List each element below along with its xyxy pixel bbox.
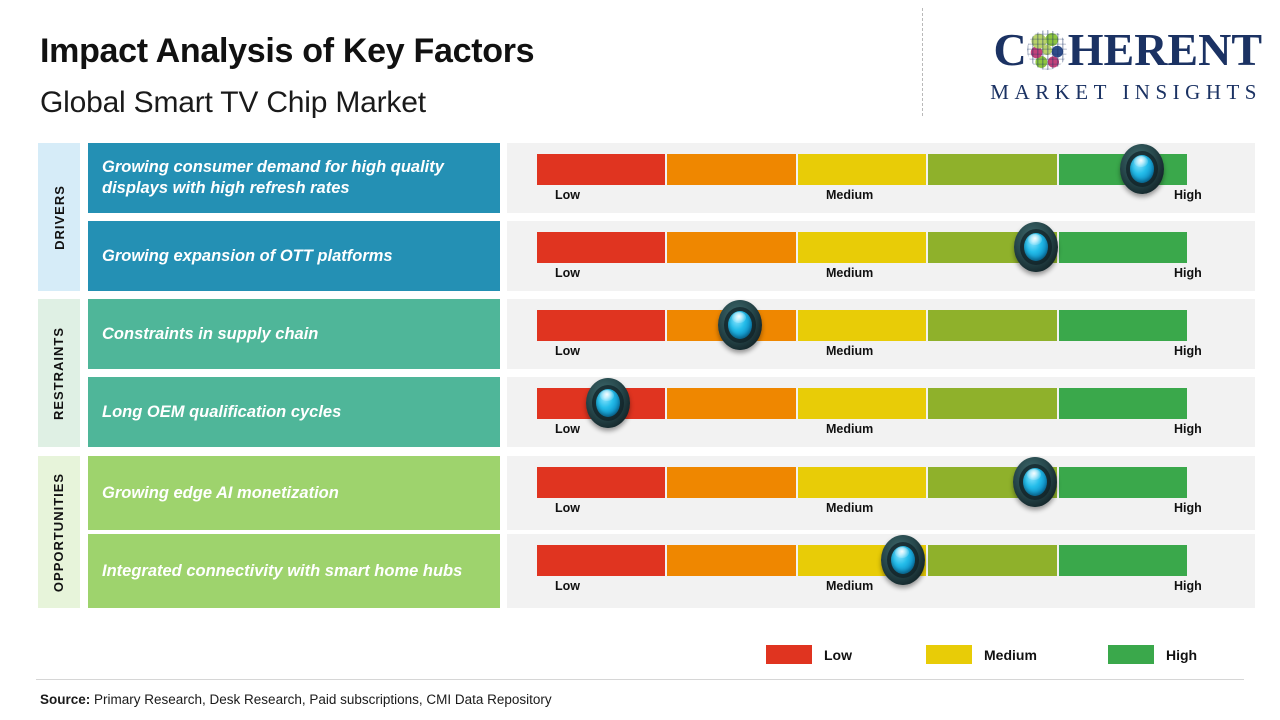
factor-box[interactable]: Constraints in supply chain xyxy=(88,299,500,369)
legend-item: Low xyxy=(766,645,852,664)
legend-swatch-high xyxy=(1108,645,1154,664)
gauge-label-low: Low xyxy=(555,266,580,280)
gauge-segment-low xyxy=(667,232,797,263)
category-label-text: DRIVERS xyxy=(52,185,67,250)
gauge-segment-medium-high xyxy=(928,388,1058,419)
gauge-scale-labels: LowMediumHigh xyxy=(507,188,1255,210)
factor-label: Growing consumer demand for high quality… xyxy=(102,157,486,198)
factor-box[interactable]: Growing consumer demand for high quality… xyxy=(88,143,500,213)
gauge-segment-medium xyxy=(798,545,928,576)
factor-box[interactable]: Integrated connectivity with smart home … xyxy=(88,534,500,608)
legend-label: Medium xyxy=(984,647,1037,663)
gauge-scale-labels: LowMediumHigh xyxy=(507,422,1255,444)
legend-label: Low xyxy=(824,647,852,663)
gauge-bar xyxy=(537,154,1187,185)
gauge-label-high: High xyxy=(1174,188,1202,202)
gauge-segment-very-low xyxy=(537,154,667,185)
gauge-label-high: High xyxy=(1174,344,1202,358)
impact-gauge: LowMediumHigh xyxy=(507,221,1255,291)
gauge-label-medium: Medium xyxy=(826,188,873,202)
legend-item: Medium xyxy=(926,645,1037,664)
category-label-text: RESTRAINTS xyxy=(52,326,67,419)
gauge-segment-high xyxy=(1059,154,1187,185)
gauge-label-high: High xyxy=(1174,266,1202,280)
source-label: Source: xyxy=(40,692,90,707)
factor-label: Constraints in supply chain xyxy=(102,324,318,345)
gauge-segment-low xyxy=(667,154,797,185)
impact-gauge: LowMediumHigh xyxy=(507,377,1255,447)
gauge-label-medium: Medium xyxy=(826,579,873,593)
factor-box[interactable]: Growing edge AI monetization xyxy=(88,456,500,530)
impact-gauge: LowMediumHigh xyxy=(507,143,1255,213)
gauge-label-medium: Medium xyxy=(826,266,873,280)
gauge-label-low: Low xyxy=(555,579,580,593)
category-label-drivers: DRIVERS xyxy=(38,143,80,291)
gauge-segment-high xyxy=(1059,467,1187,498)
gauge-bar xyxy=(537,545,1187,576)
gauge-scale-labels: LowMediumHigh xyxy=(507,579,1255,601)
gauge-segment-very-low xyxy=(537,310,667,341)
gauge-bar xyxy=(537,467,1187,498)
gauge-label-low: Low xyxy=(555,422,580,436)
gauge-scale-labels: LowMediumHigh xyxy=(507,501,1255,523)
gauge-bar xyxy=(537,232,1187,263)
gauge-segment-medium-high xyxy=(928,232,1058,263)
gauge-label-medium: Medium xyxy=(826,422,873,436)
legend-label: High xyxy=(1166,647,1197,663)
gauge-segment-medium xyxy=(798,388,928,419)
category-label-restraints: RESTRAINTS xyxy=(38,299,80,447)
gauge-label-high: High xyxy=(1174,422,1202,436)
gauge-segment-low xyxy=(667,310,797,341)
source-note: Source: Primary Research, Desk Research,… xyxy=(40,692,552,707)
factor-label: Growing edge AI monetization xyxy=(102,483,339,504)
gauge-label-low: Low xyxy=(555,344,580,358)
gauge-segment-medium xyxy=(798,154,928,185)
category-label-text: OPPORTUNITIES xyxy=(52,472,67,591)
gauge-segment-medium-high xyxy=(928,154,1058,185)
gauge-segment-high xyxy=(1059,232,1187,263)
factor-label: Growing expansion of OTT platforms xyxy=(102,246,393,267)
impact-grid: DRIVERSRESTRAINTSOPPORTUNITIESGrowing co… xyxy=(0,0,1280,720)
gauge-segment-very-low xyxy=(537,467,667,498)
gauge-segment-high xyxy=(1059,388,1187,419)
gauge-segment-high xyxy=(1059,310,1187,341)
gauge-scale-labels: LowMediumHigh xyxy=(507,344,1255,366)
footer-divider xyxy=(36,679,1244,680)
category-label-opportunities: OPPORTUNITIES xyxy=(38,456,80,608)
gauge-bar xyxy=(537,388,1187,419)
factor-label: Long OEM qualification cycles xyxy=(102,402,341,423)
gauge-label-low: Low xyxy=(555,501,580,515)
gauge-segment-medium xyxy=(798,310,928,341)
gauge-label-high: High xyxy=(1174,579,1202,593)
source-text: Primary Research, Desk Research, Paid su… xyxy=(90,692,551,707)
gauge-segment-low xyxy=(667,545,797,576)
gauge-segment-medium-high xyxy=(928,545,1058,576)
gauge-segment-high xyxy=(1059,545,1187,576)
legend: LowMediumHigh xyxy=(766,645,1186,669)
gauge-segment-very-low xyxy=(537,232,667,263)
impact-gauge: LowMediumHigh xyxy=(507,456,1255,530)
gauge-label-high: High xyxy=(1174,501,1202,515)
gauge-segment-very-low xyxy=(537,545,667,576)
factor-box[interactable]: Long OEM qualification cycles xyxy=(88,377,500,447)
factor-label: Integrated connectivity with smart home … xyxy=(102,561,462,582)
gauge-scale-labels: LowMediumHigh xyxy=(507,266,1255,288)
gauge-bar xyxy=(537,310,1187,341)
gauge-segment-low xyxy=(667,467,797,498)
gauge-label-low: Low xyxy=(555,188,580,202)
legend-item: High xyxy=(1108,645,1197,664)
legend-swatch-medium xyxy=(926,645,972,664)
gauge-segment-medium-high xyxy=(928,467,1058,498)
gauge-segment-medium xyxy=(798,232,928,263)
gauge-segment-medium xyxy=(798,467,928,498)
gauge-label-medium: Medium xyxy=(826,344,873,358)
impact-gauge: LowMediumHigh xyxy=(507,534,1255,608)
gauge-segment-very-low xyxy=(537,388,667,419)
gauge-label-medium: Medium xyxy=(826,501,873,515)
impact-gauge: LowMediumHigh xyxy=(507,299,1255,369)
gauge-segment-medium-high xyxy=(928,310,1058,341)
factor-box[interactable]: Growing expansion of OTT platforms xyxy=(88,221,500,291)
legend-swatch-low xyxy=(766,645,812,664)
gauge-segment-low xyxy=(667,388,797,419)
